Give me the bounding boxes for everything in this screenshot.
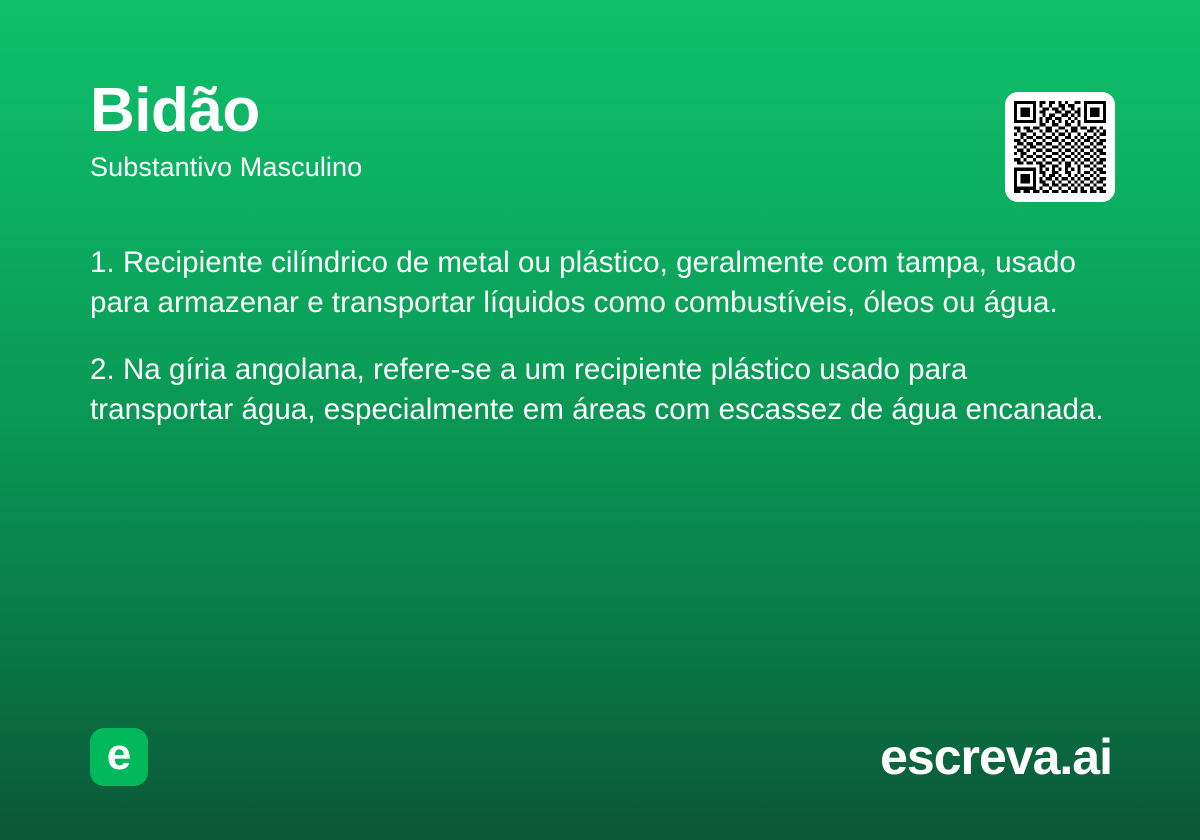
brand-logo-letter: e: [107, 733, 131, 777]
card-footer: e escreva.ai: [90, 727, 1112, 787]
entry-header: Bidão Substantivo Masculino: [90, 78, 970, 183]
definition-item: 2. Na gíria angolana, refere-se a um rec…: [90, 350, 1112, 429]
definition-item: 1. Recipiente cilíndrico de metal ou plá…: [90, 243, 1112, 322]
qr-code-icon: [1014, 101, 1106, 193]
definition-card: Bidão Substantivo Masculino 1. Recipient…: [0, 0, 1200, 840]
qr-code[interactable]: [1005, 92, 1115, 202]
brand-logo-badge[interactable]: e: [90, 728, 148, 786]
part-of-speech-label: Substantivo Masculino: [90, 151, 970, 183]
page-title: Bidão: [90, 78, 970, 143]
definition-list: 1. Recipiente cilíndrico de metal ou plá…: [90, 243, 1112, 429]
brand-wordmark: escreva.ai: [880, 732, 1112, 782]
